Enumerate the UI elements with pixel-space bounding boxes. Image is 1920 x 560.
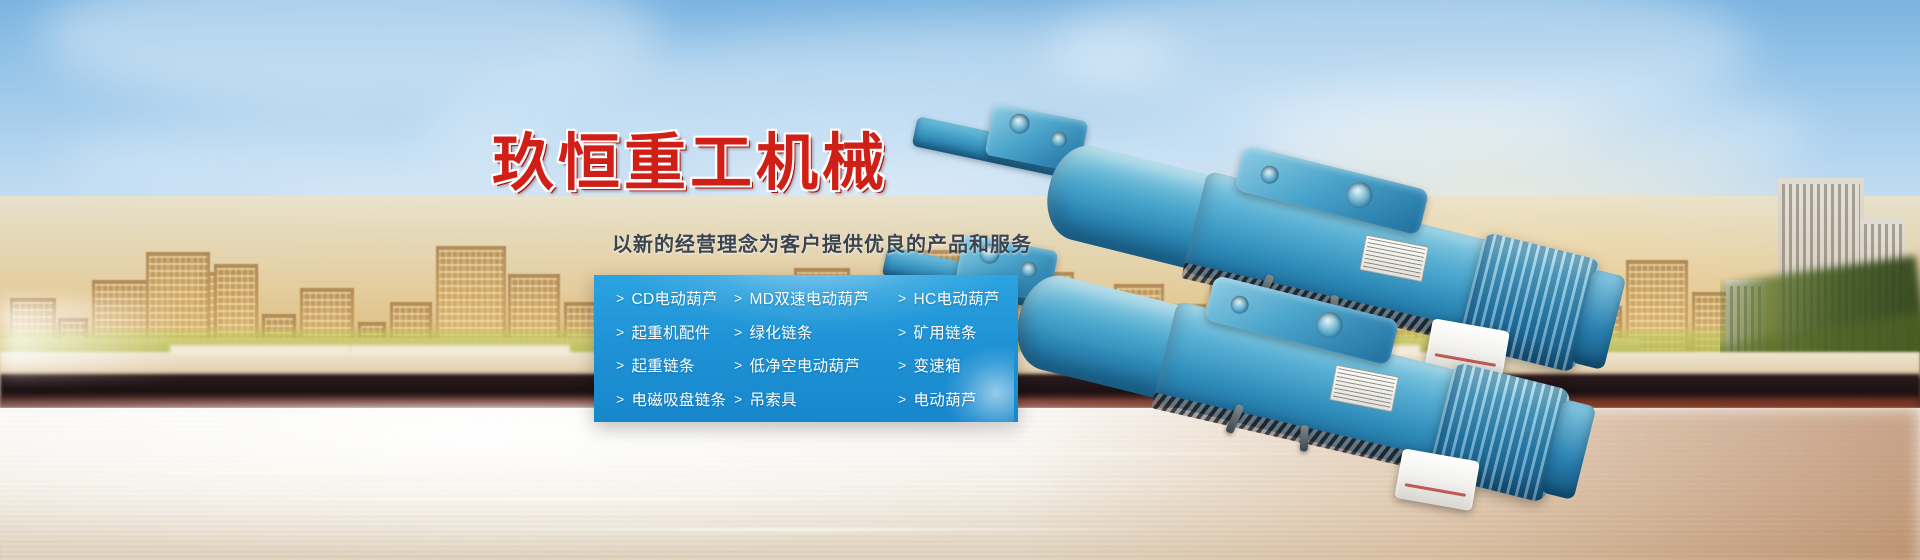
chevron-right-icon: > — [898, 358, 906, 372]
product-link-label: 吊索具 — [749, 388, 796, 410]
chevron-right-icon: > — [616, 358, 624, 372]
product-link-sling[interactable]: > 吊索具 — [734, 388, 882, 410]
chevron-right-icon: > — [898, 392, 906, 406]
product-link-label: HC电动葫芦 — [913, 287, 999, 309]
product-link-magnetic-chuck-chain[interactable]: > 电磁吸盘链条 — [616, 388, 734, 410]
chevron-right-icon: > — [616, 291, 624, 305]
product-link-label: 绿化链条 — [749, 321, 812, 343]
product-link-md-dual-speed-hoist[interactable]: > MD双速电动葫芦 — [734, 287, 882, 309]
chevron-right-icon: > — [898, 325, 906, 339]
chevron-right-icon: > — [734, 392, 742, 406]
product-link-crane-parts[interactable]: > 起重机配件 — [616, 321, 734, 343]
product-link-greening-chain[interactable]: > 绿化链条 — [734, 321, 882, 343]
product-link-label: 起重机配件 — [631, 321, 710, 343]
chevron-right-icon: > — [898, 291, 906, 305]
product-link-gearbox[interactable]: > 变速箱 — [882, 354, 1018, 376]
product-link-low-headroom-hoist[interactable]: > 低净空电动葫芦 — [734, 354, 882, 376]
product-link-label: 电动葫芦 — [913, 388, 976, 410]
product-link-label: 电磁吸盘链条 — [631, 388, 726, 410]
banner-content: 玖恒重工机械 以新的经营理念为客户提供优良的产品和服务 > CD电动葫芦 > M… — [0, 0, 1920, 560]
product-link-label: MD双速电动葫芦 — [749, 287, 869, 309]
product-link-lifting-chain[interactable]: > 起重链条 — [616, 354, 734, 376]
page-title: 玖恒重工机械 — [492, 112, 888, 202]
product-link-electric-hoist[interactable]: > 电动葫芦 — [882, 388, 1018, 410]
product-link-hc-hoist[interactable]: > HC电动葫芦 — [882, 287, 1018, 309]
product-link-cd-hoist[interactable]: > CD电动葫芦 — [616, 287, 734, 309]
product-link-label: 低净空电动葫芦 — [749, 354, 860, 376]
product-links-grid: > CD电动葫芦 > MD双速电动葫芦 > HC电动葫芦 > 起重机配件 > — [594, 275, 1018, 422]
product-link-label: 矿用链条 — [913, 321, 976, 343]
chevron-right-icon: > — [734, 325, 742, 339]
chevron-right-icon: > — [734, 358, 742, 372]
product-link-mining-chain[interactable]: > 矿用链条 — [882, 321, 1018, 343]
hero-banner: 玖恒重工机械 以新的经营理念为客户提供优良的产品和服务 > CD电动葫芦 > M… — [0, 0, 1920, 560]
product-link-label: CD电动葫芦 — [631, 287, 717, 309]
banner-subtitle: 以新的经营理念为客户提供优良的产品和服务 — [612, 228, 1032, 257]
product-links-panel: > CD电动葫芦 > MD双速电动葫芦 > HC电动葫芦 > 起重机配件 > — [594, 275, 1018, 422]
chevron-right-icon: > — [734, 291, 742, 305]
chevron-right-icon: > — [616, 325, 624, 339]
chevron-right-icon: > — [616, 392, 624, 406]
product-link-label: 起重链条 — [631, 354, 694, 376]
product-link-label: 变速箱 — [913, 354, 960, 376]
